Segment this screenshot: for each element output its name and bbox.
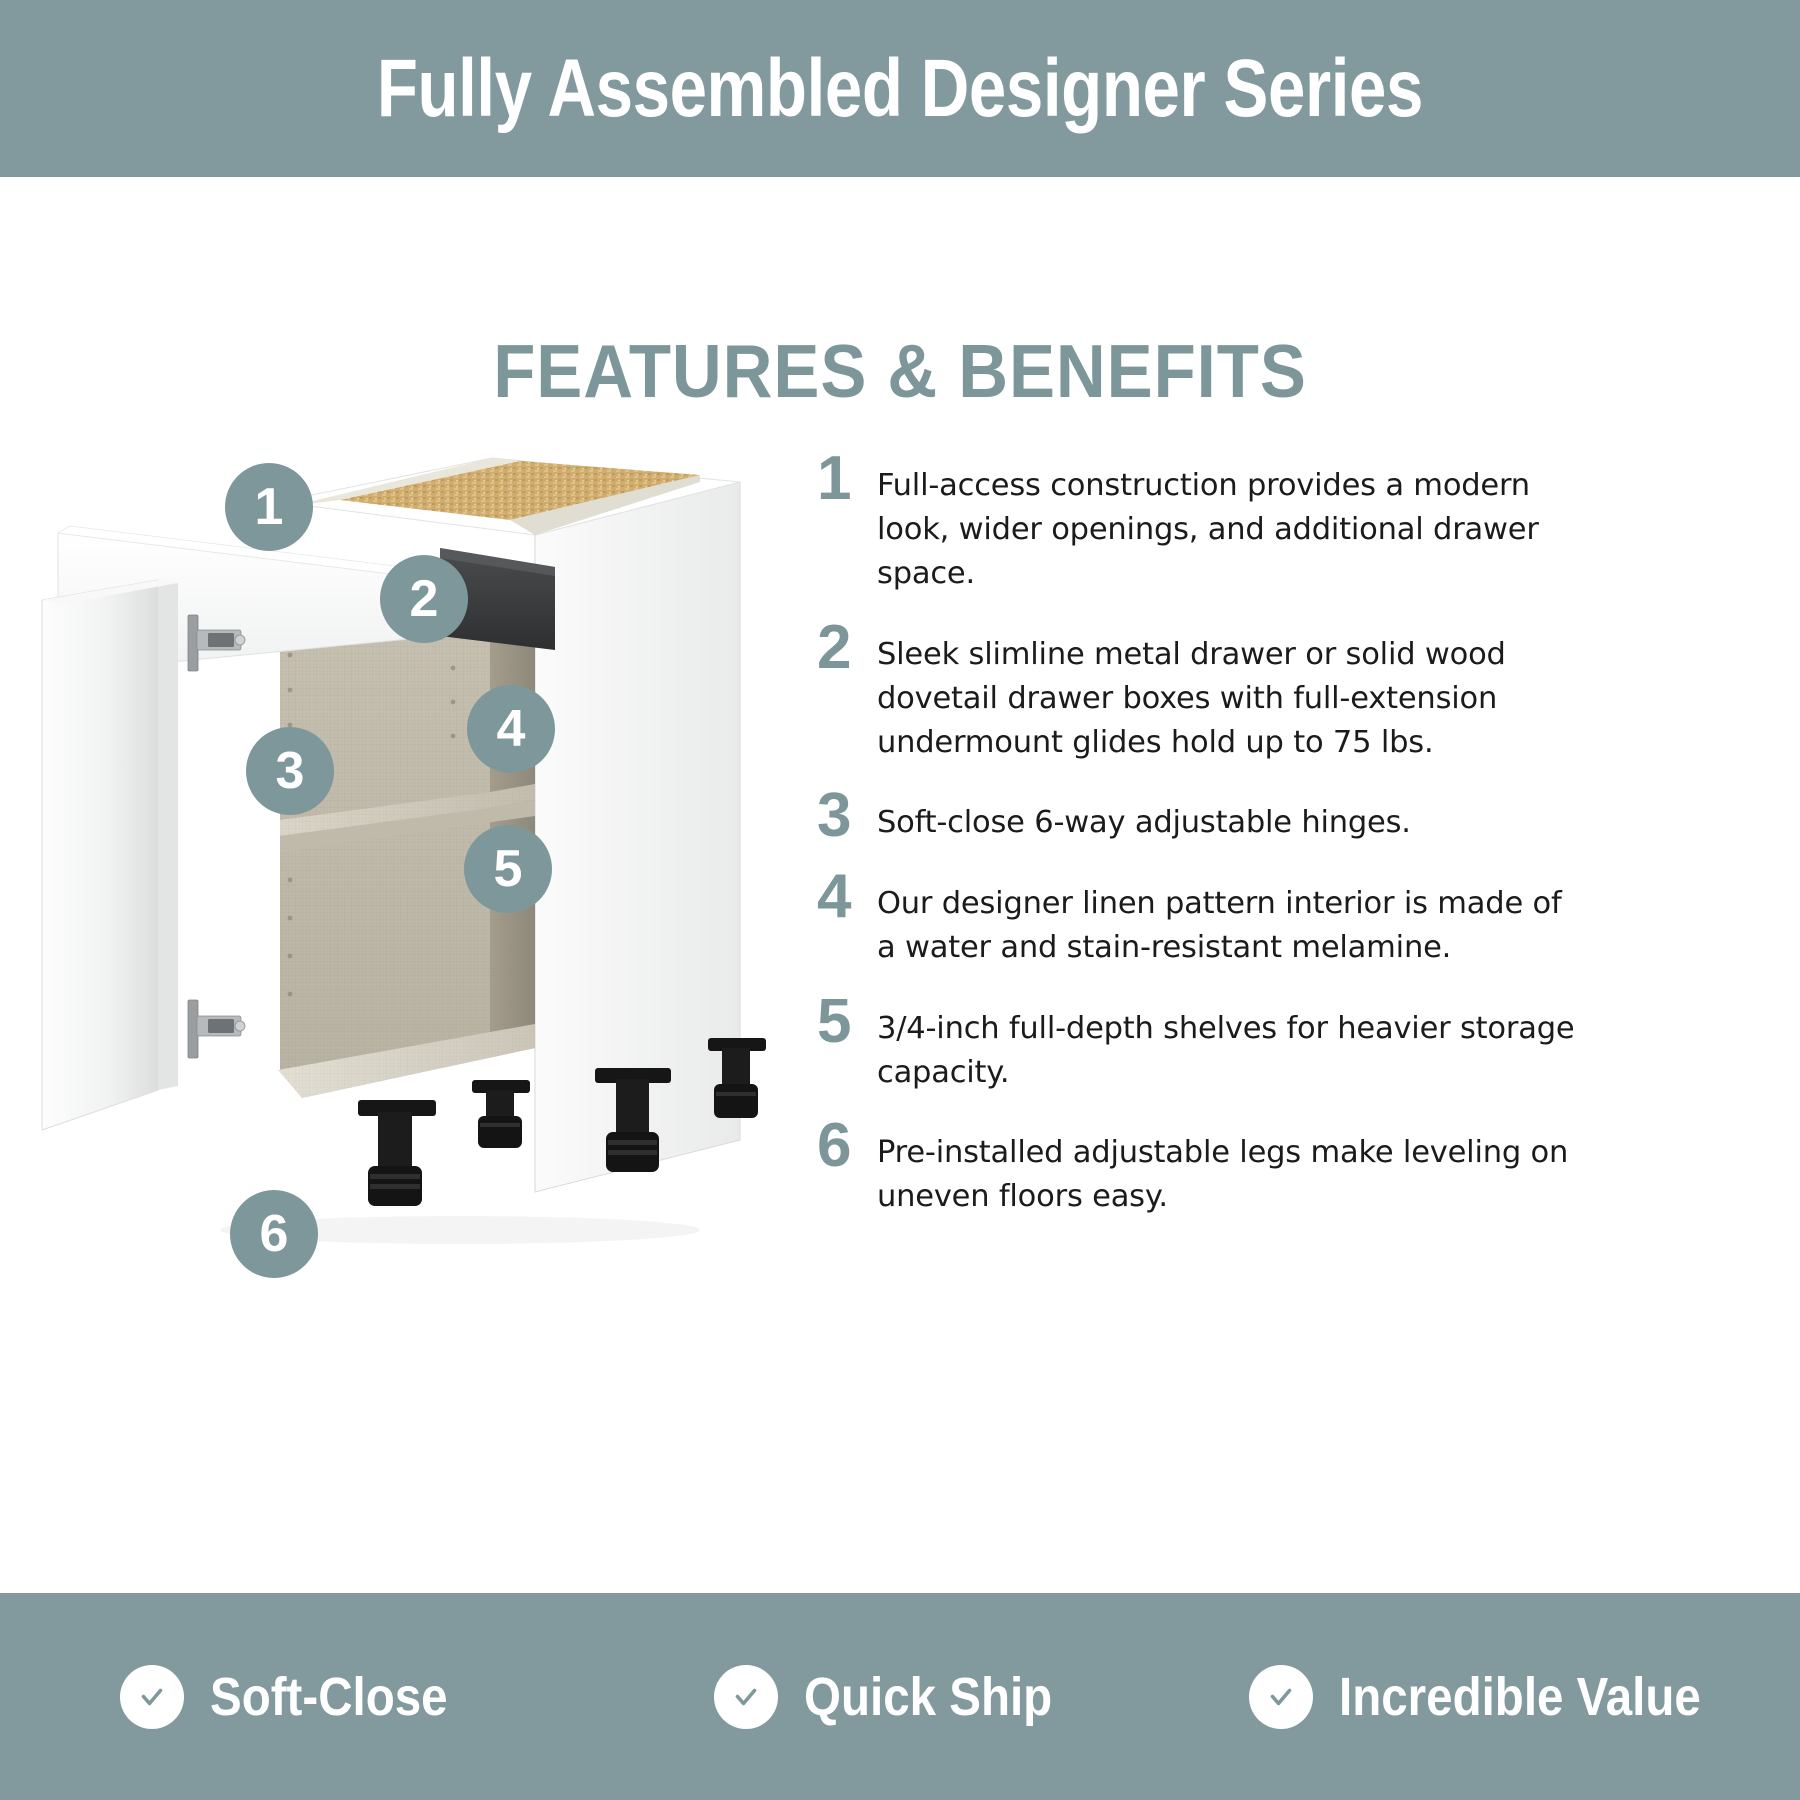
cabinet-door-inner-edge [158,580,178,1090]
feature-item-4: 4 Our designer linen pattern interior is… [805,868,1765,970]
footer-label-quick-ship: Quick Ship [804,1666,1052,1728]
section-heading: FEATURES & BENEFITS [72,328,1728,414]
check-circle-icon [120,1665,184,1729]
feature-item-5: 5 3/4-inch full-depth shelves for heavie… [805,993,1765,1095]
cabinet-door [42,580,158,1130]
feature-text-4: Our designer linen pattern interior is m… [877,868,1577,970]
soft-close-hinge-lower [188,1000,245,1058]
page-title: Fully Assembled Designer Series [377,42,1423,136]
callout-badge-3[interactable]: 3 [246,727,334,815]
check-circle-icon [714,1665,778,1729]
feature-item-6: 6 Pre-installed adjustable legs make lev… [805,1117,1765,1219]
feature-text-3: Soft-close 6-way adjustable hinges. [877,787,1577,845]
feature-text-6: Pre-installed adjustable legs make level… [877,1117,1577,1219]
footer-label-soft-close: Soft-Close [210,1666,448,1728]
footer-badge-soft-close: Soft-Close [0,1665,600,1729]
footer-badge-incredible-value: Incredible Value [1200,1665,1800,1729]
check-circle-icon [1249,1665,1313,1729]
footer-bar: Soft-Close Quick Ship Incredible Value [0,1593,1800,1800]
feature-text-2: Sleek slimline metal drawer or solid woo… [877,619,1577,766]
adjustable-leg-back-left [472,1080,530,1148]
callout-badge-6[interactable]: 6 [230,1190,318,1278]
main-content: 1 2 3 4 5 6 1 Full-access construction p… [0,430,1800,1430]
feature-item-3: 3 Soft-close 6-way adjustable hinges. [805,787,1765,846]
feature-number-2: 2 [805,619,877,678]
feature-number-1: 1 [805,450,877,509]
feature-item-1: 1 Full-access construction provides a mo… [805,450,1765,597]
callout-badge-1[interactable]: 1 [225,463,313,551]
feature-number-5: 5 [805,993,877,1052]
callout-badge-2[interactable]: 2 [380,555,468,643]
feature-number-4: 4 [805,868,877,927]
feature-text-5: 3/4-inch full-depth shelves for heavier … [877,993,1577,1095]
callout-badge-4[interactable]: 4 [467,685,555,773]
features-list: 1 Full-access construction provides a mo… [805,450,1765,1242]
feature-number-6: 6 [805,1117,877,1176]
feature-number-3: 3 [805,787,877,846]
feature-item-2: 2 Sleek slimline metal drawer or solid w… [805,619,1765,766]
footer-label-incredible-value: Incredible Value [1339,1666,1701,1728]
feature-text-1: Full-access construction provides a mode… [877,450,1577,597]
footer-badge-quick-ship: Quick Ship [600,1665,1200,1729]
adjustable-leg-front-left [358,1100,436,1206]
callout-badge-5[interactable]: 5 [464,825,552,913]
cabinet-illustration: 1 2 3 4 5 6 [40,440,800,1340]
header-bar: Fully Assembled Designer Series [0,0,1800,177]
